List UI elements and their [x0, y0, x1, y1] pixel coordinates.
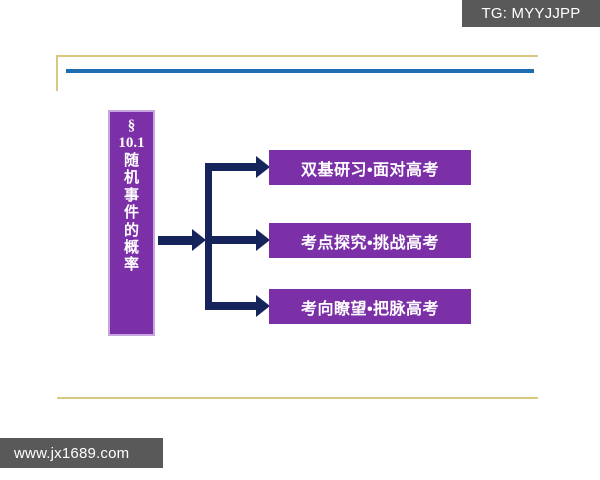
watermark-badge: www.jx1689.com	[0, 438, 163, 468]
section-mark: §	[128, 118, 136, 135]
gold-rule-bottom	[57, 397, 538, 399]
section-title-box: § 10.1 随 机 事 件 的 概 率	[108, 110, 155, 336]
feed-arrow-shaft	[158, 236, 194, 245]
branch-arrow-shaft	[205, 163, 259, 171]
branch-arrow-head-icon	[256, 156, 270, 178]
branch-arrow-shaft	[205, 236, 259, 244]
section-number: 10.1	[118, 135, 144, 152]
branch-arrow-head-icon	[256, 295, 270, 317]
section-title-char: 事	[124, 187, 139, 204]
nav-item-kaoxiang-liaowang[interactable]: 考向瞭望•把脉高考	[269, 289, 471, 324]
section-title-char: 概	[124, 239, 139, 256]
branch-arrow-shaft	[205, 302, 259, 310]
section-title-char: 率	[124, 256, 139, 273]
nav-item-kaodian-tanjiu[interactable]: 考点探究•挑战高考	[269, 223, 471, 258]
gold-rule-left	[56, 55, 58, 91]
tag-badge: TG: MYYJJPP	[462, 0, 600, 27]
nav-item-shuangji-yanxi[interactable]: 双基研习•面对高考	[269, 150, 471, 185]
feed-arrow-head-icon	[192, 229, 206, 251]
blue-rule	[66, 69, 534, 73]
slide-canvas: § 10.1 随 机 事 件 的 概 率 双基研习•面对高考 考点探究•挑战高考…	[0, 0, 600, 480]
section-title-char: 机	[124, 169, 139, 186]
gold-rule-top	[56, 55, 538, 57]
section-title-char: 件	[124, 204, 139, 221]
branch-arrow-head-icon	[256, 229, 270, 251]
section-title-char: 随	[124, 152, 139, 169]
section-title-char: 的	[124, 222, 139, 239]
